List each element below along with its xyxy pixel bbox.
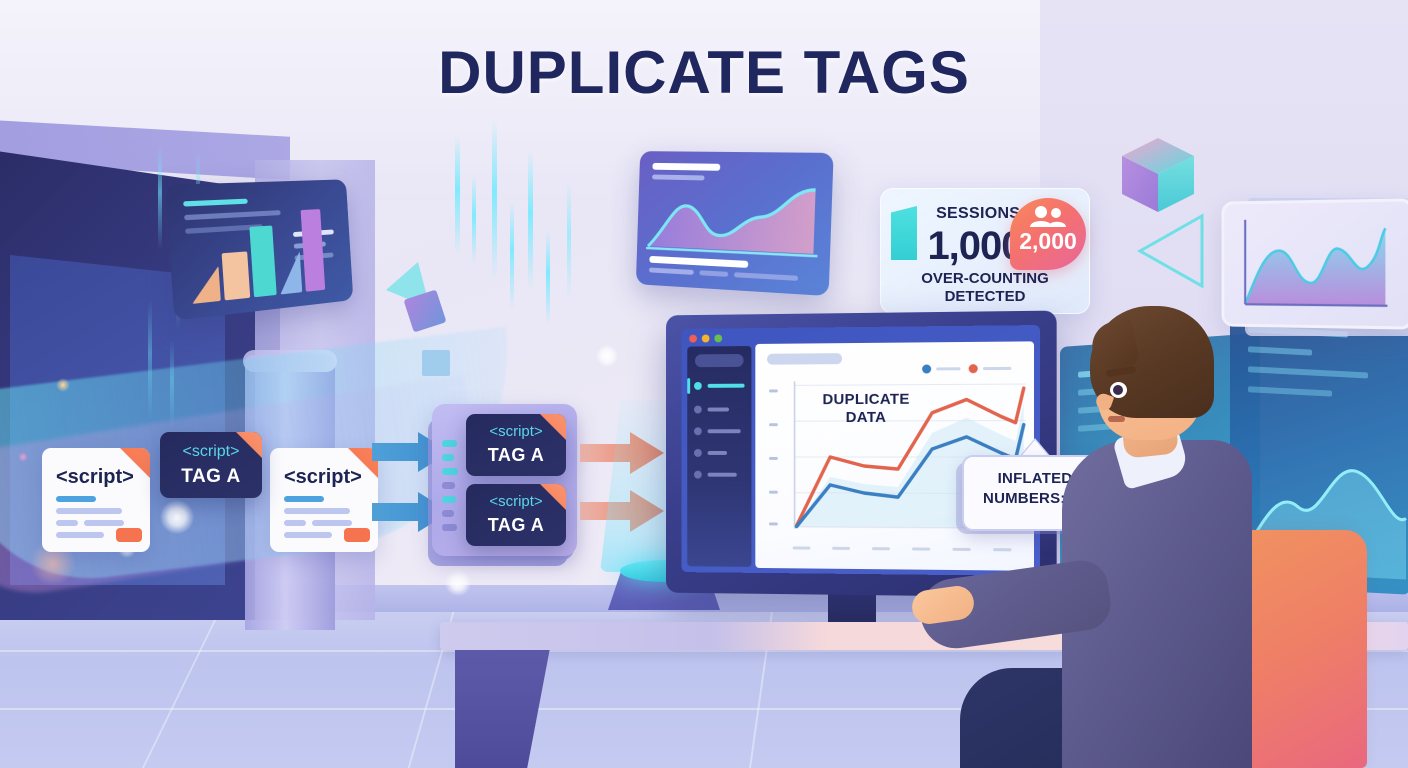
area-chart-card <box>1222 198 1408 329</box>
script-doc-left-label: <script> <box>56 466 134 489</box>
gradient-cube-icon <box>1122 138 1194 212</box>
over-counting-subtitle: OVER-COUNTING DETECTED <box>890 270 1080 306</box>
tag-card-stack-1-label: TAG A <box>466 445 566 466</box>
tag-card-stack-2-label: TAG A <box>466 515 566 536</box>
legend-dot-blue <box>922 364 931 373</box>
tag-card-floating-label: TAG A <box>160 466 262 488</box>
bar-4 <box>278 251 303 294</box>
bar-3 <box>249 226 276 298</box>
monitor-screen: DUPLICATE DATA <box>681 325 1040 576</box>
bar-chart-card <box>165 179 353 320</box>
script-doc-mid: <script> <box>270 448 378 552</box>
window-close-dot[interactable] <box>689 335 697 343</box>
bar-1 <box>190 266 221 304</box>
floating-shapes-group <box>386 262 498 388</box>
person-pupil <box>1113 385 1123 395</box>
content-header-pill <box>767 353 842 365</box>
sidebar-item-2[interactable] <box>687 401 751 417</box>
tag-card-floating: <script> TAG A <box>160 432 262 498</box>
tag-card-stack-2: <script> TAG A <box>466 484 566 546</box>
over-count-badge-value: 2,000 <box>1010 228 1086 255</box>
bar-5 <box>301 209 326 292</box>
window-minimize-dot[interactable] <box>702 335 710 343</box>
tag-card-floating-script: <script> <box>160 443 262 461</box>
legend-line-blue <box>936 367 960 370</box>
legend-line-red <box>983 367 1012 370</box>
tag-card-stack-1: <script> TAG A <box>466 414 566 476</box>
sidebar-item-active[interactable] <box>687 378 751 394</box>
app-sidebar <box>687 346 751 567</box>
person-mouth <box>1108 416 1125 422</box>
people-icon <box>1028 205 1068 227</box>
window-maximize-dot[interactable] <box>714 334 722 342</box>
illustration-canvas: DUPLICATE TAGS <box>0 0 1408 768</box>
tag-card-stack-2-script: <script> <box>466 493 566 510</box>
tag-card-stack-1-script: <script> <box>466 423 566 440</box>
sidebar-item-4[interactable] <box>687 445 751 461</box>
cyan-triangle-outline-icon <box>1136 214 1206 288</box>
bar-2 <box>222 251 251 300</box>
legend-dot-red <box>969 364 978 373</box>
chart-annotation-label: DUPLICATE DATA <box>806 391 926 427</box>
page-title: DUPLICATE TAGS <box>0 38 1408 107</box>
script-doc-left: <script> <box>42 448 150 552</box>
sidebar-item-5[interactable] <box>687 467 751 483</box>
script-doc-mid-label: <script> <box>284 466 362 489</box>
sidebar-item-3[interactable] <box>687 423 751 439</box>
wave-chart-card <box>636 151 834 296</box>
sidebar-header-pill <box>695 354 744 367</box>
